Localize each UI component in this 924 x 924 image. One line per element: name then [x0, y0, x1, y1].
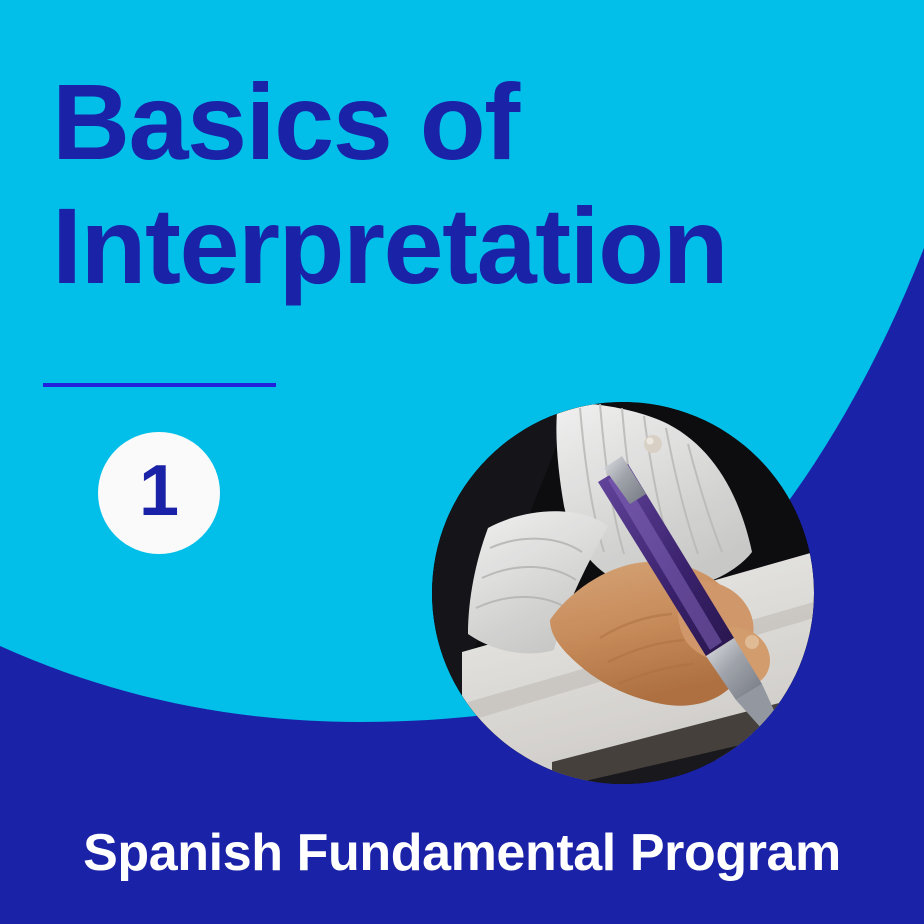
photo-content: [432, 402, 814, 784]
photo-vignette: [432, 402, 814, 784]
title-line-1: Basics of: [52, 70, 852, 174]
footer-banner-label: Spanish Fundamental Program: [83, 823, 841, 883]
card-title: Basics of Interpretation: [52, 70, 852, 297]
course-card: Basics of Interpretation 1: [0, 0, 924, 924]
lesson-number-label: 1: [139, 455, 179, 527]
title-line-2: Interpretation: [52, 194, 852, 298]
lesson-number-badge: 1: [98, 432, 220, 554]
title-divider: [43, 383, 276, 387]
hand-writing-photo: [432, 402, 814, 784]
footer-banner: Spanish Fundamental Program: [0, 790, 924, 924]
hand-writing-illustration: [432, 402, 814, 784]
